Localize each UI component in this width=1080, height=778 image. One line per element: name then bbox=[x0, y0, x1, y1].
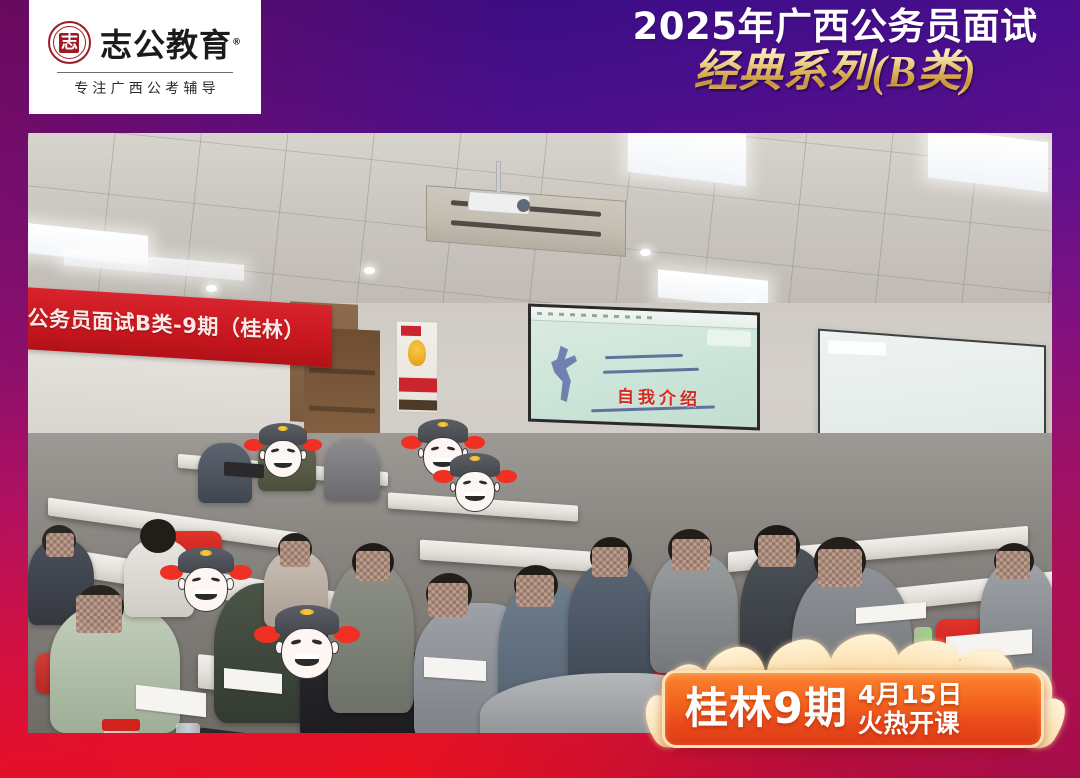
sticker-hat-badge bbox=[469, 456, 480, 461]
screen-watermark bbox=[707, 329, 751, 347]
seal-icon: 志 bbox=[48, 21, 91, 64]
standee-figure-icon bbox=[408, 340, 426, 366]
cartoon-face-sticker bbox=[172, 547, 240, 615]
ceiling-downlight bbox=[640, 249, 651, 256]
cartoon-face-sticker bbox=[444, 453, 506, 515]
badge-date-text: 4月15日 bbox=[858, 681, 963, 708]
sticker-mouth bbox=[295, 654, 320, 666]
standee-poster bbox=[396, 320, 438, 413]
brand-logo-box: 志 志公教育® 专注广西公考辅导 bbox=[29, 0, 261, 114]
blurred-face bbox=[76, 595, 122, 633]
poster-title-secondary: 经典系列(B类) bbox=[620, 45, 1050, 99]
standee-header bbox=[401, 326, 421, 337]
brand-name: 志公教育® bbox=[100, 20, 242, 66]
blurred-face bbox=[672, 539, 710, 571]
blurred-face bbox=[758, 535, 796, 567]
badge-main-text: 桂林9期 bbox=[685, 688, 848, 731]
sticker-mouth bbox=[195, 590, 217, 600]
blurred-face bbox=[516, 575, 554, 607]
sticker-hat-badge bbox=[278, 426, 288, 431]
logo-divider bbox=[57, 72, 233, 73]
sticker-hat-badge bbox=[200, 550, 212, 556]
enrollment-badge[interactable]: 桂林9期 4月15日 火热开课 bbox=[640, 632, 1064, 764]
student-head bbox=[140, 519, 176, 553]
logo-row: 志 志公教育® bbox=[48, 20, 242, 66]
seal-char: 志 bbox=[59, 33, 79, 53]
screen-toolbar bbox=[531, 307, 757, 330]
badge-right-column: 4月15日 火热开课 bbox=[858, 681, 963, 737]
blurred-face bbox=[356, 551, 390, 581]
blurred-face bbox=[592, 547, 628, 577]
blurred-face bbox=[46, 533, 74, 557]
sticker-hat-badge bbox=[437, 422, 448, 427]
poster-title-primary: 2025年广西公务员面试 bbox=[620, 6, 1050, 47]
cartoon-face-sticker bbox=[254, 423, 312, 481]
water-bottle: Giant bbox=[176, 723, 200, 733]
poster-title-block: 2025年广西公务员面试 经典系列(B类) bbox=[620, 6, 1050, 99]
blurred-face bbox=[428, 583, 468, 617]
sticker-hat-badge bbox=[300, 609, 314, 616]
projector-mount bbox=[496, 161, 501, 195]
blurred-face bbox=[996, 551, 1030, 579]
blurred-face bbox=[818, 549, 862, 587]
projection-screen: 自我介绍 bbox=[528, 304, 760, 431]
ceiling bbox=[28, 133, 1052, 311]
standee-base bbox=[399, 400, 437, 411]
badge-sub-text: 火热开课 bbox=[858, 710, 963, 737]
screen-figure-icon bbox=[547, 345, 581, 402]
screen-handwriting-line bbox=[603, 368, 699, 374]
standee-title-band bbox=[399, 378, 437, 393]
paper-sheet bbox=[424, 657, 486, 681]
ceiling-downlight bbox=[206, 285, 217, 292]
student bbox=[324, 439, 380, 501]
brand-name-text: 志公教育 bbox=[100, 26, 232, 64]
screen-highlight-text: 自我介绍 bbox=[617, 382, 701, 410]
screen-handwriting-line bbox=[605, 354, 683, 359]
blurred-face bbox=[280, 541, 310, 567]
registered-mark: ® bbox=[232, 37, 242, 47]
cartoon-face-sticker bbox=[268, 605, 346, 683]
thermos-cup-lid bbox=[102, 719, 140, 731]
course-wall-banner-text: 西公务员面试B类-9期（桂林） bbox=[28, 301, 332, 348]
brand-tagline: 专注广西公考辅导 bbox=[70, 78, 220, 98]
promo-poster: 志 志公教育® 专注广西公考辅导 2025年广西公务员面试 经典系列(B类) bbox=[0, 0, 1080, 778]
badge-plate[interactable]: 桂林9期 4月15日 火热开课 bbox=[662, 670, 1044, 748]
ceiling-downlight bbox=[364, 267, 375, 274]
projector-lens bbox=[517, 199, 530, 212]
